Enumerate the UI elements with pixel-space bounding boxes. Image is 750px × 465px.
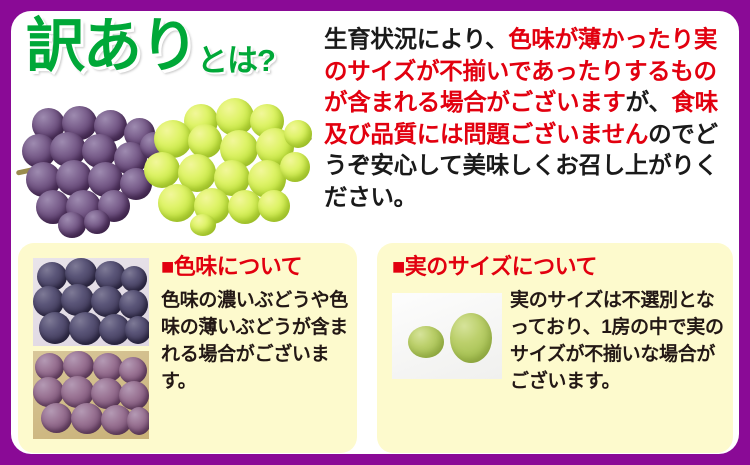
two-green-grapes-size-comparison-photo <box>392 293 502 379</box>
small-grape-shape <box>408 326 444 358</box>
card-color-about: ■色味について 色味の濃いぶどうや色味の薄いぶどうが含まれる場合がございます。 <box>18 243 357 453</box>
dark-purple-grapes-photo <box>33 258 149 346</box>
card-color-body: 色味の濃いぶどうや色味の薄いぶどうが含まれる場合がございます。 <box>161 287 351 395</box>
light-purple-grapes-photo <box>33 351 149 439</box>
card-color-heading-text: 色味について <box>174 254 302 279</box>
card-size-heading-text: 実のサイズについて <box>405 254 597 279</box>
card-size-body: 実のサイズは不選別となっており、1房の中で実のサイズが不揃いな場合がございます。 <box>510 287 724 395</box>
card-size-marker: ■ <box>392 254 405 279</box>
lead-line3-plain: が、 <box>626 89 672 115</box>
card-size-about: ■実のサイズについて 実のサイズは不選別となっており、1房の中で実のサイズが不揃… <box>377 243 733 453</box>
lead-paragraph: 生育状況により、色味が薄かったり実のサイズが不揃いであったりするものが含まれる場… <box>324 24 730 213</box>
lead-line1-plain: 生育状況により、 <box>324 26 508 52</box>
large-grape-shape <box>450 313 492 363</box>
card-color-heading: ■色味について <box>161 256 302 278</box>
card-size-heading: ■実のサイズについて <box>392 256 597 278</box>
title-sub-text: とは? <box>197 43 275 78</box>
card-color-marker: ■ <box>161 254 174 279</box>
hero-grape-photo <box>22 98 314 230</box>
green-grape-cluster-image <box>144 98 314 228</box>
promo-banner: 訳ありとは? <box>0 0 750 465</box>
page-title: 訳ありとは? <box>26 17 316 89</box>
title-main-text: 訳あり <box>26 13 197 79</box>
lead-line1-highlight: 色味が薄かったり <box>508 26 694 52</box>
